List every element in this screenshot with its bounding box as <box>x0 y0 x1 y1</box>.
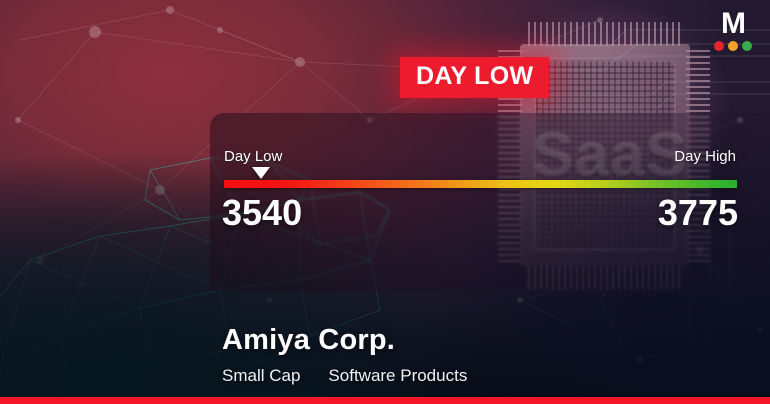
logo-amber-dot <box>728 41 738 51</box>
company-meta: Small Cap Software Products <box>222 366 467 386</box>
stock-gauge-card: SaaS M <box>0 0 770 404</box>
day-low-value: 3540 <box>222 193 302 233</box>
day-low-label: Day Low <box>224 148 282 165</box>
day-low-banner: DAY LOW <box>400 57 549 98</box>
brand-logo[interactable]: M <box>710 10 756 51</box>
company-name: Amiya Corp. <box>222 324 395 357</box>
market-cap-class: Small Cap <box>222 366 300 386</box>
logo-green-dot <box>742 41 752 51</box>
company-sector: Software Products <box>328 366 467 386</box>
logo-dots <box>710 41 756 51</box>
day-high-label: Day High <box>674 148 736 165</box>
gauge-marker-triangle-icon <box>252 167 270 179</box>
bottom-accent-bar <box>0 397 770 404</box>
logo-red-dot <box>714 41 724 51</box>
logo-mark-m: M <box>710 10 756 38</box>
day-high-value: 3775 <box>658 193 738 233</box>
day-range-gauge-bar[interactable] <box>224 180 737 188</box>
